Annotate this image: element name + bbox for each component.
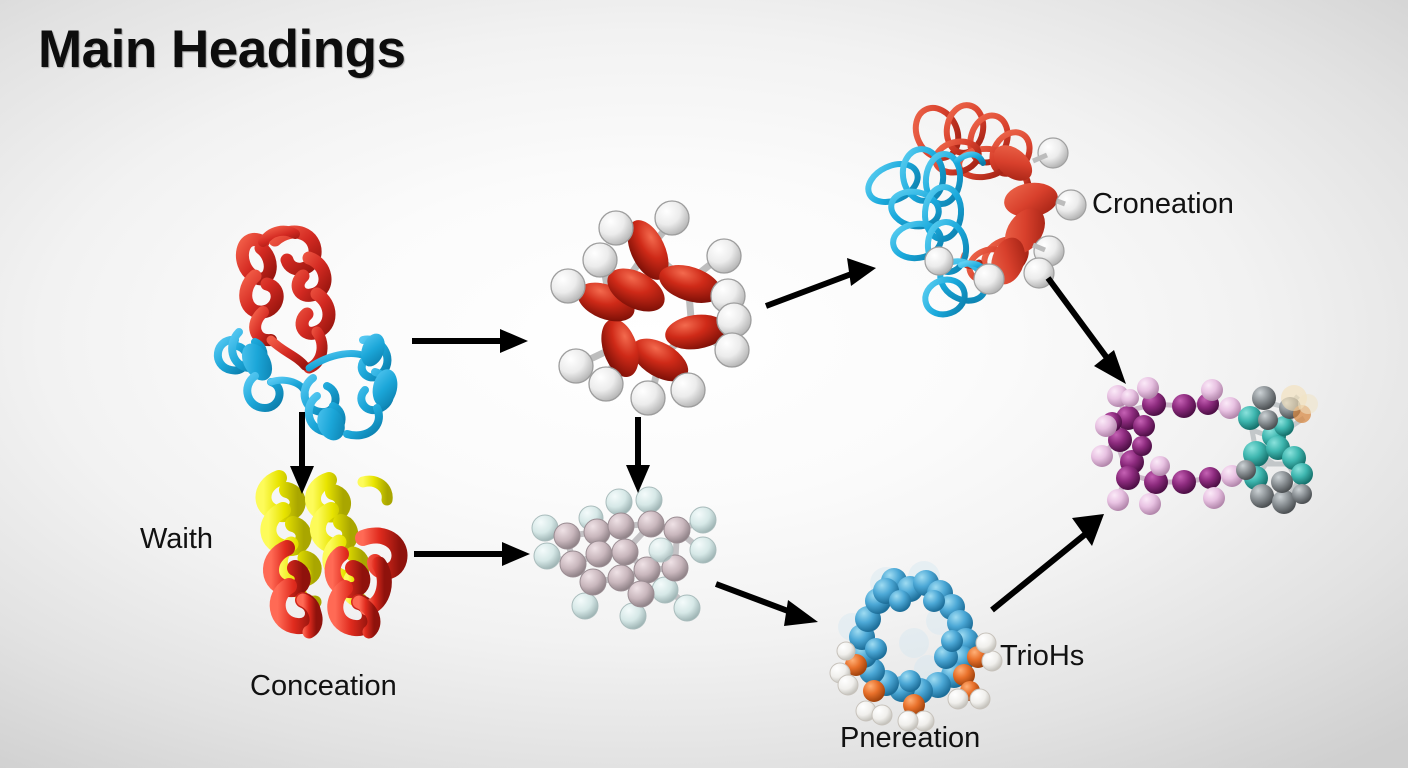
ribbon-red-helix-lower — [271, 535, 400, 632]
node-ring-blue-orange — [828, 565, 1008, 735]
node-molecule-pale — [535, 490, 720, 625]
molecule-ellipsoids — [572, 214, 729, 390]
label-waith: Waith — [140, 523, 213, 556]
arrow-1-protein-to-molecule — [410, 325, 530, 357]
arrow-6-croneation-to-triohs — [1044, 274, 1136, 390]
arrow-8-pnereation-to-triohs — [988, 510, 1112, 618]
arrow-7-pale-to-pnereation — [712, 578, 824, 636]
label-croneation: Croneation — [1092, 188, 1234, 221]
node-molecule-red — [548, 198, 748, 408]
arrow-4-molecule-to-pale — [622, 415, 654, 495]
node-protein-red-blue — [205, 190, 415, 440]
slide-canvas: Main Headings — [0, 0, 1408, 768]
arrow-2-protein-to-conceation — [286, 410, 318, 496]
label-conceation: Conceation — [250, 670, 397, 703]
molecule-atoms-pale — [532, 487, 716, 629]
label-triohs: TrioHs — [1000, 640, 1084, 673]
label-pnereation: Pnereation — [840, 722, 980, 755]
page-title: Main Headings — [38, 19, 406, 80]
arrow-3-molecule-to-croneation — [762, 256, 884, 314]
node-protein-yellow-red — [245, 478, 415, 638]
node-molecule-purple — [1098, 378, 1313, 528]
arrow-5-conceation-to-pale — [412, 538, 532, 570]
